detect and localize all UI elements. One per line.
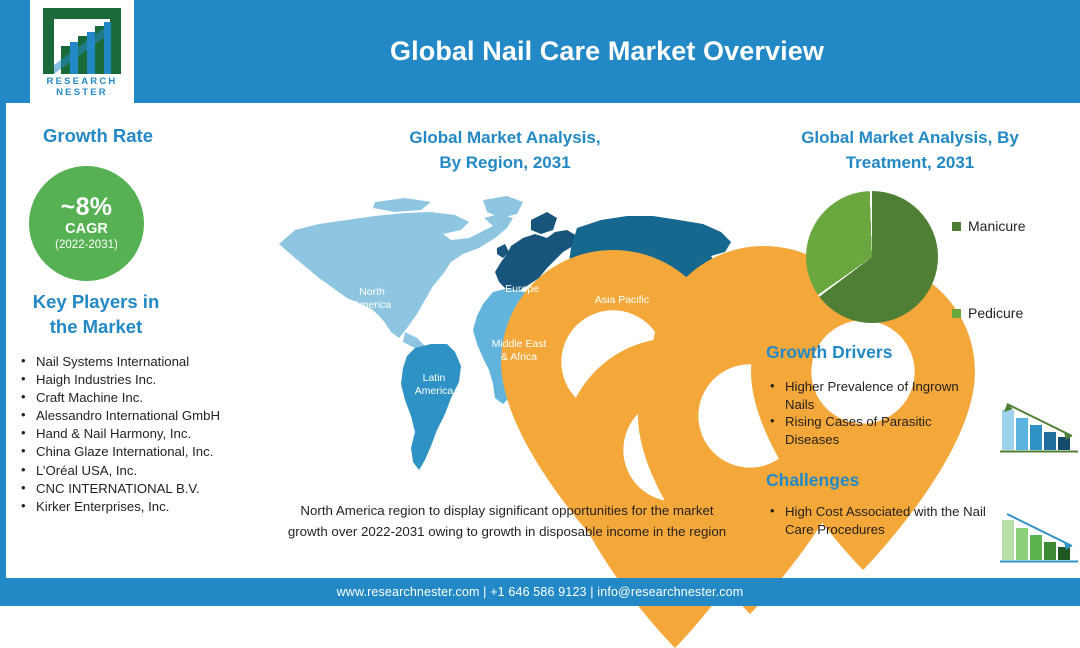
map-label-middle-east-africa-line2: & Africa [470, 351, 568, 364]
map-label-middle-east-africa-line1: Middle East [470, 338, 568, 351]
key-players-heading: Key Players in the Market [6, 289, 186, 339]
footer-contact-text: www.researchnester.com | +1 646 586 9123… [337, 585, 744, 599]
key-player-item: CNC INTERNATIONAL B.V. [14, 480, 249, 498]
footer-bar: www.researchnester.com | +1 646 586 9123… [0, 578, 1080, 606]
key-player-item: Craft Machine Inc. [14, 389, 249, 407]
map-label-latin-america-line2: America [395, 385, 473, 398]
key-players-heading-line2: the Market [6, 314, 186, 339]
growth-driver-item: Rising Cases of Parasitic Diseases [766, 413, 988, 448]
legend-label-manicure: Manicure [968, 218, 1026, 234]
key-player-item: China Glaze International, Inc. [14, 443, 249, 461]
world-map: North America Latin America Europe Middl… [255, 182, 765, 492]
legend-label-pedicure: Pedicure [968, 305, 1023, 321]
key-player-item: Kirker Enterprises, Inc. [14, 498, 249, 516]
map-label-north-america-line1: North [333, 286, 411, 299]
treatment-analysis-heading-line1: Global Market Analysis, By [750, 125, 1070, 150]
treatment-analysis-heading-line2: Treatment, 2031 [750, 150, 1070, 175]
growth-drivers-heading: Growth Drivers [766, 342, 892, 363]
region-analysis-heading-line1: Global Market Analysis, [290, 125, 720, 150]
map-label-latin-america: Latin America [395, 372, 473, 397]
growth-driver-item: Higher Prevalence of Ingrown Nails [766, 378, 988, 413]
legend-swatch-manicure [952, 222, 961, 231]
map-label-asia-pacific-line1: Asia Pacific [581, 294, 663, 307]
key-player-item: L’Oréal USA, Inc. [14, 462, 249, 480]
map-region-greenland [483, 196, 523, 218]
challenges-heading: Challenges [766, 470, 859, 491]
treatment-analysis-heading: Global Market Analysis, By Treatment, 20… [750, 125, 1070, 175]
logo-wordmark-line2: NESTER [39, 87, 125, 98]
growth-drivers-trend-chart [1000, 398, 1078, 456]
treatment-pie-chart [806, 191, 938, 323]
map-label-europe: Europe [483, 283, 561, 296]
legend-swatch-pedicure [952, 309, 961, 318]
map-region-scandinavia [531, 212, 557, 234]
key-players-list: Nail Systems InternationalHaigh Industri… [14, 353, 249, 516]
map-label-north-america-line2: America [333, 299, 411, 312]
map-label-asia-pacific: Asia Pacific [581, 294, 663, 307]
key-player-item: Nail Systems International [14, 353, 249, 371]
header-bar: RESEARCH NESTER Global Nail Care Market … [0, 0, 1080, 103]
region-analysis-heading: Global Market Analysis, By Region, 2031 [290, 125, 720, 175]
map-region-canada-islands [373, 198, 431, 212]
challenges-trend-chart [1000, 508, 1078, 566]
legend-item-manicure: Manicure [952, 218, 1026, 234]
logo-wordmark: RESEARCH NESTER [39, 76, 125, 98]
infographic-page: RESEARCH NESTER Global Nail Care Market … [0, 0, 1080, 606]
map-label-europe-line1: Europe [483, 283, 561, 296]
map-label-latin-america-line1: Latin [395, 372, 473, 385]
map-label-north-america: North America [333, 286, 411, 311]
cagr-label: CAGR [65, 221, 108, 238]
logo-wordmark-line1: RESEARCH [39, 76, 125, 87]
page-title: Global Nail Care Market Overview [134, 0, 1080, 103]
cagr-badge: ~8% CAGR (2022-2031) [29, 166, 144, 281]
challenges-list: High Cost Associated with the Nail Care … [766, 503, 988, 538]
key-player-item: Haigh Industries Inc. [14, 371, 249, 389]
cagr-value: ~8% [61, 194, 113, 221]
map-caption: North America region to display signific… [282, 500, 732, 542]
key-player-item: Hand & Nail Harmony, Inc. [14, 425, 249, 443]
growth-rate-heading: Growth Rate [18, 125, 178, 147]
cagr-years: (2022-2031) [55, 238, 118, 253]
region-analysis-heading-line2: By Region, 2031 [290, 150, 720, 175]
challenge-item: High Cost Associated with the Nail Care … [766, 503, 988, 538]
key-players-heading-line1: Key Players in [6, 289, 186, 314]
map-label-middle-east-africa: Middle East & Africa [470, 338, 568, 363]
research-nester-logo: RESEARCH NESTER [39, 6, 125, 98]
legend-item-pedicure: Pedicure [952, 305, 1023, 321]
key-player-item: Alessandro International GmbH [14, 407, 249, 425]
logo-plate: RESEARCH NESTER [30, 0, 134, 103]
growth-drivers-list: Higher Prevalence of Ingrown NailsRising… [766, 378, 988, 448]
